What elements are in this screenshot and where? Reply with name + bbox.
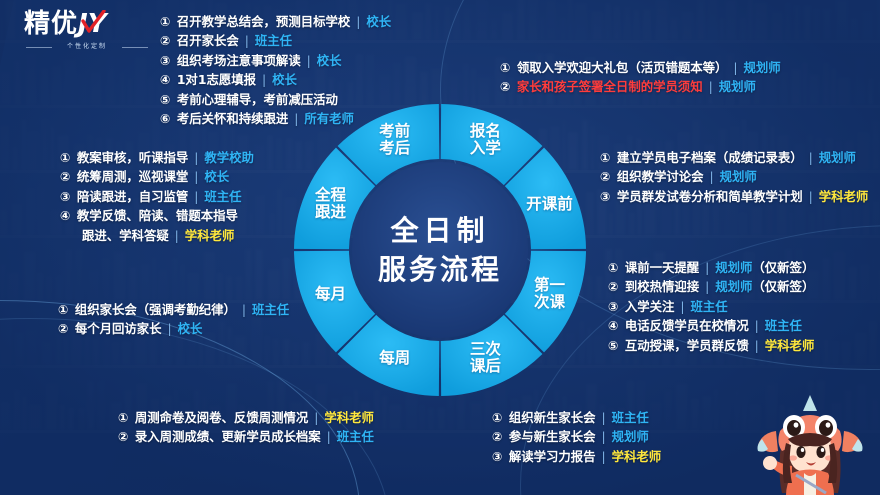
role-tag: 班主任 [612, 410, 649, 425]
item-text: 组织新生家长会 [509, 410, 596, 425]
donut-label-meizhou: 每周 [355, 350, 435, 367]
role-tag: 班主任 [337, 429, 374, 444]
block-before-class: ① 建立学员电子档案（成绩记录表） | 规划师② 组织教学讨论会 | 规划师③ … [600, 148, 868, 206]
donut-label-quancheng: 全程 跟进 [291, 187, 371, 221]
list-marker: ③ [600, 189, 615, 204]
item-separator: | [190, 169, 202, 184]
item-separator: | [751, 318, 763, 333]
role-tag: 学科老师 [819, 189, 869, 204]
list-marker: ① [60, 150, 75, 165]
koi-girl-mascot [746, 387, 874, 495]
item-text: 领取入学欢迎大礼包（活页错题本等） [517, 60, 728, 75]
item-suffix: （仅新签） [752, 279, 814, 294]
list-marker: ② [608, 279, 623, 294]
item-text: 到校热情迎接 [625, 279, 699, 294]
item-text: 组织考场注意事项解读 [177, 53, 301, 68]
followup-item-1: ① 教案审核，听课指导 | 教学校助 [60, 148, 254, 167]
before-class-item-3: ③ 学员群发试卷分析和简单教学计划 | 学科老师 [600, 187, 868, 206]
item-text: 召开家长会 [177, 33, 239, 48]
item-text: 陪读跟进，自习监管 [77, 189, 189, 204]
item-text: 入学关注 [625, 299, 675, 314]
donut-svg [293, 103, 587, 397]
item-separator: | [598, 410, 610, 425]
role-tag: 班主任 [690, 299, 727, 314]
item-separator: | [171, 228, 183, 243]
first-class-item-2: ② 到校热情迎接 | 规划师（仅新签） [608, 277, 814, 296]
list-marker: ① [492, 410, 507, 425]
item-text: 每个月回访家长 [75, 321, 162, 336]
after-three-item-1: ① 组织新生家长会 | 班主任 [492, 408, 661, 427]
list-marker: ① [160, 14, 175, 29]
first-class-item-3: ③ 入学关注 | 班主任 [608, 297, 814, 316]
list-marker: ④ [60, 208, 75, 223]
list-marker: ② [160, 33, 175, 48]
list-marker: ① [58, 302, 73, 317]
exam-item-3: ③ 组织考场注意事项解读 | 校长 [160, 51, 391, 70]
item-text: 组织家长会（强调考勤纪律） [75, 302, 236, 317]
role-tag: 教学校助 [204, 150, 254, 165]
service-flow-donut: 报名 入学开课前第一 次课三次 课后每周每月全程 跟进考前 考后 全日制 服务流… [293, 103, 587, 397]
item-suffix: （仅新签） [752, 260, 814, 275]
first-class-item-5: ⑤ 互动授课，学员群反馈 | 学科老师 [608, 336, 814, 355]
brand-logo: 精优JY 个性化定制 [24, 8, 150, 60]
role-tag: 学科老师 [612, 449, 662, 464]
item-separator: | [190, 150, 202, 165]
monthly-item-1: ① 组织家长会（强调考勤纪律） | 班主任 [58, 300, 289, 319]
list-marker: ① [608, 260, 623, 275]
list-marker: ③ [608, 299, 623, 314]
item-separator: | [598, 449, 610, 464]
role-tag: 规划师 [715, 260, 752, 275]
block-followup: ① 教案审核，听课指导 | 教学校助② 统筹周测，巡视课堂 | 校长③ 陪读跟进… [60, 148, 254, 245]
role-tag: 学科老师 [324, 410, 374, 425]
list-marker: ⑤ [160, 92, 175, 107]
item-separator: | [805, 189, 817, 204]
first-class-item-1: ① 课前一天提醒 | 规划师（仅新签） [608, 258, 814, 277]
followup-item-5: 跟进、学科答疑 | 学科老师 [60, 226, 254, 245]
item-text: 周测命卷及阅卷、反馈周测情况 [135, 410, 308, 425]
block-weekly: ① 周测命卷及阅卷、反馈周测情况 | 学科老师② 录入周测成绩、更新学员成长档案… [118, 408, 374, 447]
role-tag: 规划师 [819, 150, 856, 165]
role-tag: 规划师 [715, 279, 752, 294]
item-separator: | [706, 169, 718, 184]
after-three-item-2: ② 参与新生家长会 | 规划师 [492, 427, 661, 446]
item-text: 召开教学总结会，预测目标学校 [177, 14, 350, 29]
logo-jy-text: JY [78, 9, 107, 39]
role-tag: 校长 [272, 72, 297, 87]
role-tag: 学科老师 [185, 228, 235, 243]
donut-label-kaoqian: 考前 考后 [355, 123, 435, 157]
before-class-item-2: ② 组织教学讨论会 | 规划师 [600, 167, 868, 186]
item-text: 教案审核，听课指导 [77, 150, 189, 165]
list-marker: ② [58, 321, 73, 336]
donut-core [352, 162, 528, 338]
item-text: 1对1志愿填报 [177, 72, 256, 87]
donut-label-diyicike: 第一 次课 [509, 277, 589, 311]
role-tag: 班主任 [252, 302, 289, 317]
item-separator: | [303, 53, 315, 68]
role-tag: 规划师 [744, 60, 781, 75]
role-tag: 校长 [178, 321, 203, 336]
item-text: 教学反馈、陪读、错题本指导 [77, 208, 238, 223]
item-text: 考后关怀和持续跟进 [177, 111, 289, 126]
item-separator: | [164, 321, 176, 336]
list-marker: ③ [160, 53, 175, 68]
role-tag: 校长 [204, 169, 229, 184]
weekly-item-1: ① 周测命卷及阅卷、反馈周测情况 | 学科老师 [118, 408, 374, 427]
item-text: 学员群发试卷分析和简单教学计划 [617, 189, 803, 204]
donut-label-sancikehou: 三次 课后 [445, 341, 525, 375]
followup-item-2: ② 统筹周测，巡视课堂 | 校长 [60, 167, 254, 186]
exam-item-4: ④ 1对1志愿填报 | 校长 [160, 70, 391, 89]
item-separator: | [729, 60, 741, 75]
list-marker: ① [600, 150, 615, 165]
exam-item-1: ① 召开教学总结会，预测目标学校 | 校长 [160, 12, 391, 31]
role-tag: 规划师 [719, 79, 756, 94]
list-marker: ① [500, 60, 515, 75]
item-separator: | [751, 338, 763, 353]
role-tag: 班主任 [204, 189, 241, 204]
item-separator: | [701, 279, 713, 294]
item-text: 课前一天提醒 [625, 260, 699, 275]
list-marker: ⑤ [608, 338, 623, 353]
role-tag: 班主任 [255, 33, 292, 48]
list-marker: ① [118, 410, 133, 425]
item-separator: | [323, 429, 335, 444]
first-class-item-4: ④ 电话反馈学员在校情况 | 班主任 [608, 316, 814, 335]
block-enroll: ① 领取入学欢迎大礼包（活页错题本等） | 规划师② 家长和孩子签署全日制的学员… [500, 58, 781, 97]
list-marker: ② [500, 79, 515, 94]
item-text: 互动授课，学员群反馈 [625, 338, 749, 353]
logo-tagline: 个性化定制 [24, 42, 150, 52]
block-after-three: ① 组织新生家长会 | 班主任② 参与新生家长会 | 规划师③ 解读学习力报告 … [492, 408, 661, 466]
exam-item-2: ② 召开家长会 | 班主任 [160, 31, 391, 50]
monthly-item-2: ② 每个月回访家长 | 校长 [58, 319, 289, 338]
item-text: 组织教学讨论会 [617, 169, 704, 184]
role-tag: 规划师 [612, 429, 649, 444]
weekly-item-2: ② 录入周测成绩、更新学员成长档案 | 班主任 [118, 427, 374, 446]
list-marker: ② [492, 429, 507, 444]
enroll-item-2: ② 家长和孩子签署全日制的学员须知 | 规划师 [500, 77, 781, 96]
item-text: 建立学员电子档案（成绩记录表） [617, 150, 803, 165]
donut-label-kaikeqian: 开课前 [509, 196, 589, 213]
list-marker: ② [600, 169, 615, 184]
item-separator: | [705, 79, 717, 94]
block-monthly: ① 组织家长会（强调考勤纪律） | 班主任② 每个月回访家长 | 校长 [58, 300, 289, 339]
list-marker: ③ [60, 189, 75, 204]
followup-item-3: ③ 陪读跟进，自习监管 | 班主任 [60, 187, 254, 206]
before-class-item-1: ① 建立学员电子档案（成绩记录表） | 规划师 [600, 148, 868, 167]
item-separator: | [676, 299, 688, 314]
item-text: 录入周测成绩、更新学员成长档案 [135, 429, 321, 444]
donut-label-meiyue: 每月 [291, 286, 371, 303]
item-separator: | [241, 33, 253, 48]
followup-item-4: ④ 教学反馈、陪读、错题本指导 [60, 206, 254, 225]
item-separator: | [190, 189, 202, 204]
role-tag: 班主任 [765, 318, 802, 333]
item-text: 跟进、学科答疑 [82, 228, 169, 243]
item-text: 电话反馈学员在校情况 [625, 318, 749, 333]
item-text: 统筹周测，巡视课堂 [77, 169, 189, 184]
block-first-class: ① 课前一天提醒 | 规划师（仅新签）② 到校热情迎接 | 规划师（仅新签）③ … [608, 258, 814, 355]
item-separator: | [352, 14, 364, 29]
list-marker: ④ [608, 318, 623, 333]
item-separator: | [258, 72, 270, 87]
role-tag: 校长 [317, 53, 342, 68]
donut-label-baoming: 报名 入学 [445, 123, 525, 157]
item-separator: | [310, 410, 322, 425]
logo-main-text: 精优 [24, 9, 78, 39]
after-three-item-3: ③ 解读学习力报告 | 学科老师 [492, 447, 661, 466]
item-text: 参与新生家长会 [509, 429, 596, 444]
list-marker: ② [118, 429, 133, 444]
item-separator: | [805, 150, 817, 165]
role-tag: 规划师 [720, 169, 757, 184]
list-marker: ④ [160, 72, 175, 87]
item-text: 家长和孩子签署全日制的学员须知 [517, 79, 703, 94]
list-marker: ③ [492, 449, 507, 464]
logo-wordmark: 精优JY [24, 8, 150, 40]
list-marker: ⑥ [160, 111, 175, 126]
item-separator: | [238, 302, 250, 317]
enroll-item-1: ① 领取入学欢迎大礼包（活页错题本等） | 规划师 [500, 58, 781, 77]
list-marker: ② [60, 169, 75, 184]
item-text: 解读学习力报告 [509, 449, 596, 464]
role-tag: 校长 [366, 14, 391, 29]
item-separator: | [701, 260, 713, 275]
role-tag: 学科老师 [765, 338, 815, 353]
item-separator: | [598, 429, 610, 444]
